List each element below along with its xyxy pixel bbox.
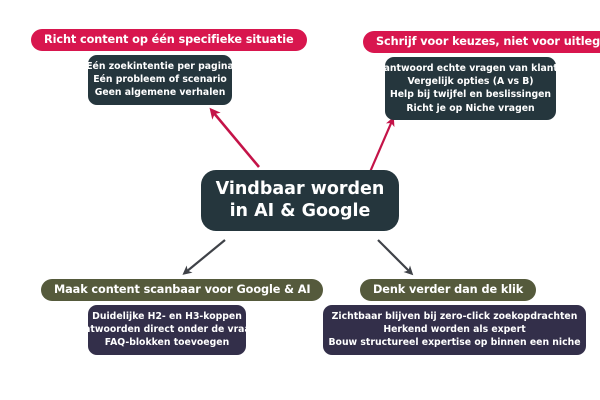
arrow-center-to-top-left	[213, 112, 259, 167]
branch-pill-top-right[interactable]: Schrijf voor keuzes, niet voor uitleg	[363, 31, 600, 53]
detail-line: Geen algemene verhalen	[95, 86, 226, 99]
detail-line: Zichtbaar blijven bij zero-click zoekopd…	[332, 310, 578, 323]
center-title-line-2: in AI & Google	[230, 201, 371, 222]
branch-details-bottom-left: Duidelijke H2- en H3-koppen Antwoorden d…	[88, 305, 246, 355]
diagram-canvas: Richt content op één specifieke situatie…	[0, 0, 600, 400]
detail-line: Bouw structureel expertise op binnen een…	[328, 336, 580, 349]
detail-line: Eén probleem of scenario	[93, 73, 227, 86]
detail-line: Herkend worden als expert	[383, 323, 525, 336]
detail-line: Duidelijke H2- en H3-koppen	[92, 310, 242, 323]
center-title-line-1: Vindbaar worden	[216, 179, 385, 200]
arrow-center-to-bottom-right	[378, 240, 410, 272]
detail-line: Vergelijk opties (A vs B)	[407, 75, 533, 88]
detail-line: Antwoorden direct onder de vraag	[77, 323, 258, 336]
detail-line: Help bij twijfel en beslissingen	[390, 88, 551, 101]
branch-details-top-right: Beantwoord echte vragen van klanten Verg…	[385, 57, 556, 120]
branch-pill-bottom-left[interactable]: Maak content scanbaar voor Google & AI	[41, 279, 323, 301]
detail-line: Beantwoord echte vragen van klanten	[370, 62, 571, 75]
detail-line: FAQ-blokken toevoegen	[105, 336, 229, 349]
branch-pill-bottom-right[interactable]: Denk verder dan de klik	[360, 279, 536, 301]
branch-details-bottom-right: Zichtbaar blijven bij zero-click zoekopd…	[323, 305, 586, 355]
detail-line: Richt je op Niche vragen	[406, 102, 534, 115]
arrow-center-to-top-right	[370, 121, 392, 172]
detail-line: Eén zoekintentie per pagina	[86, 60, 234, 73]
branch-details-top-left: Eén zoekintentie per pagina Eén probleem…	[88, 55, 232, 105]
branch-pill-top-left[interactable]: Richt content op één specifieke situatie	[31, 29, 307, 51]
arrow-center-to-bottom-left	[186, 240, 225, 272]
center-node[interactable]: Vindbaar worden in AI & Google	[201, 170, 399, 231]
